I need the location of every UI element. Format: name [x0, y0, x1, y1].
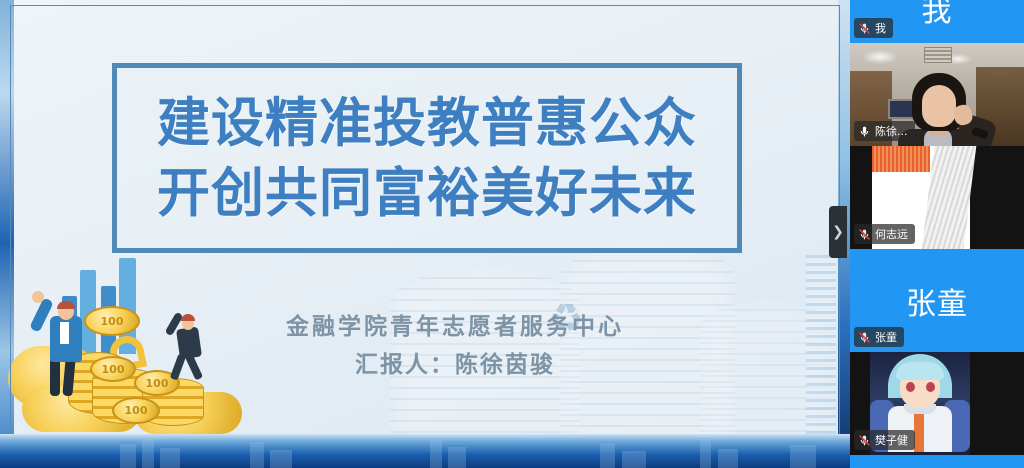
participant-name: 樊子健: [875, 432, 908, 448]
meeting-screen: ♻ 建设精准投教普惠公众 开创共同富裕美好未来 金融学院青年志愿者服务中心 汇报…: [0, 0, 1024, 468]
mic-active-icon: [858, 125, 871, 138]
slide-inner-border: [10, 5, 840, 440]
mic-muted-icon: [858, 22, 871, 35]
participant-tile-zhangtong[interactable]: 张童 张童: [850, 249, 1024, 352]
participant-name: 陈徐...: [875, 123, 908, 139]
participant-tile-fanzijian[interactable]: 樊子健: [850, 352, 1024, 455]
mic-muted-icon: [858, 331, 871, 344]
participant-name: 何志远: [875, 226, 908, 242]
skyline-silhouette-icon: [0, 434, 850, 468]
participant-video-strip[interactable]: 我 我: [850, 0, 1024, 468]
presentation-slide: ♻ 建设精准投教普惠公众 开创共同富裕美好未来 金融学院青年志愿者服务中心 汇报…: [0, 0, 850, 468]
participant-name-badge: 张童: [854, 327, 904, 347]
participant-tile-hezhiyuan[interactable]: 何志远: [850, 146, 1024, 249]
slide-bottom-band: [0, 434, 850, 468]
panel-collapse-handle[interactable]: ❯: [829, 206, 847, 258]
participant-name-badge: 陈徐...: [854, 121, 915, 141]
participant-name-badge: 我: [854, 18, 893, 38]
participant-big-name: 张童: [850, 279, 1024, 323]
participant-tile-chenxu[interactable]: 陈徐...: [850, 43, 1024, 146]
participant-tile-next[interactable]: [850, 455, 1024, 468]
participant-tile-me[interactable]: 我 我: [850, 0, 1024, 43]
participant-name-badge: 樊子健: [854, 430, 915, 450]
chevron-right-icon: ❯: [832, 225, 844, 239]
participant-name: 我: [875, 20, 886, 36]
mic-muted-icon: [858, 228, 871, 241]
shared-screen-area[interactable]: ♻ 建设精准投教普惠公众 开创共同富裕美好未来 金融学院青年志愿者服务中心 汇报…: [0, 0, 850, 468]
participant-name: 张童: [875, 329, 897, 345]
mic-muted-icon: [858, 434, 871, 447]
participant-name-badge: 何志远: [854, 224, 915, 244]
